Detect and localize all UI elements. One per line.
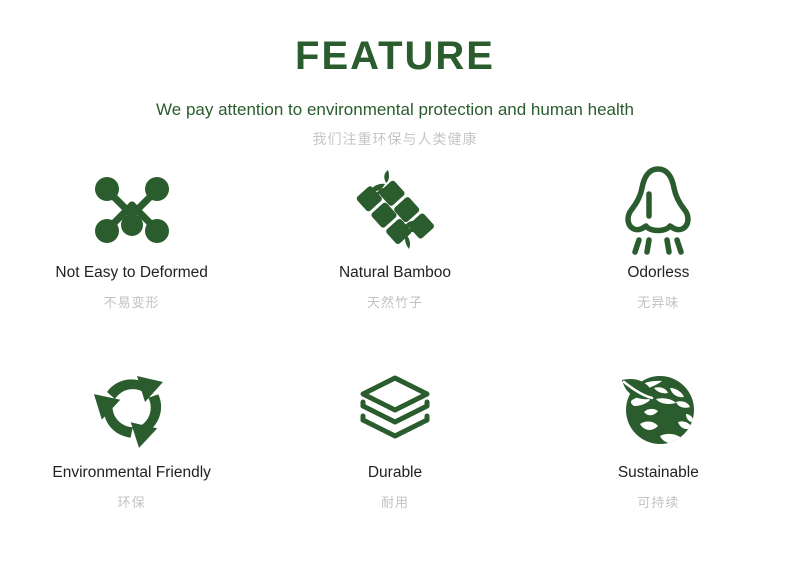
molecule-lattice-icon [91, 162, 173, 258]
section-subtitle-chinese: 我们注重环保与人类健康 [0, 131, 790, 148]
feature-label-chinese: 无异味 [637, 295, 679, 311]
layers-stack-icon [355, 358, 435, 458]
section-subtitle-english: We pay attention to environmental protec… [0, 100, 790, 120]
feature-label-english: Durable [368, 464, 422, 483]
feature-item-not-easy-to-deformed: Not Easy to Deformed 不易变形 [0, 162, 263, 358]
feature-label-english: Environmental Friendly [52, 464, 211, 483]
feature-item-odorless: Odorless 无异味 [527, 162, 790, 358]
feature-label-chinese: 不易变形 [104, 295, 160, 311]
page-title: FEATURE [0, 36, 790, 76]
feature-label-chinese: 可持续 [637, 495, 679, 511]
nose-icon [622, 162, 694, 258]
feature-label-english: Natural Bamboo [339, 264, 451, 283]
recycle-icon [89, 358, 175, 458]
feature-item-environmental-friendly: Environmental Friendly 环保 [0, 358, 263, 554]
feature-label-english: Sustainable [618, 464, 699, 483]
feature-label-english: Odorless [627, 264, 689, 283]
feature-label-chinese: 天然竹子 [367, 295, 423, 311]
feature-section: FEATURE We pay attention to environmenta… [0, 0, 790, 576]
bamboo-icon [355, 162, 435, 258]
globe-leaf-icon [616, 358, 700, 458]
feature-item-sustainable: Sustainable 可持续 [527, 358, 790, 554]
feature-label-chinese: 环保 [118, 495, 146, 511]
feature-grid: Not Easy to Deformed 不易变形 [0, 162, 790, 554]
feature-item-durable: Durable 耐用 [263, 358, 526, 554]
feature-item-natural-bamboo: Natural Bamboo 天然竹子 [263, 162, 526, 358]
feature-label-english: Not Easy to Deformed [55, 264, 207, 283]
section-header: FEATURE We pay attention to environmenta… [0, 0, 790, 148]
feature-label-chinese: 耐用 [381, 495, 409, 511]
